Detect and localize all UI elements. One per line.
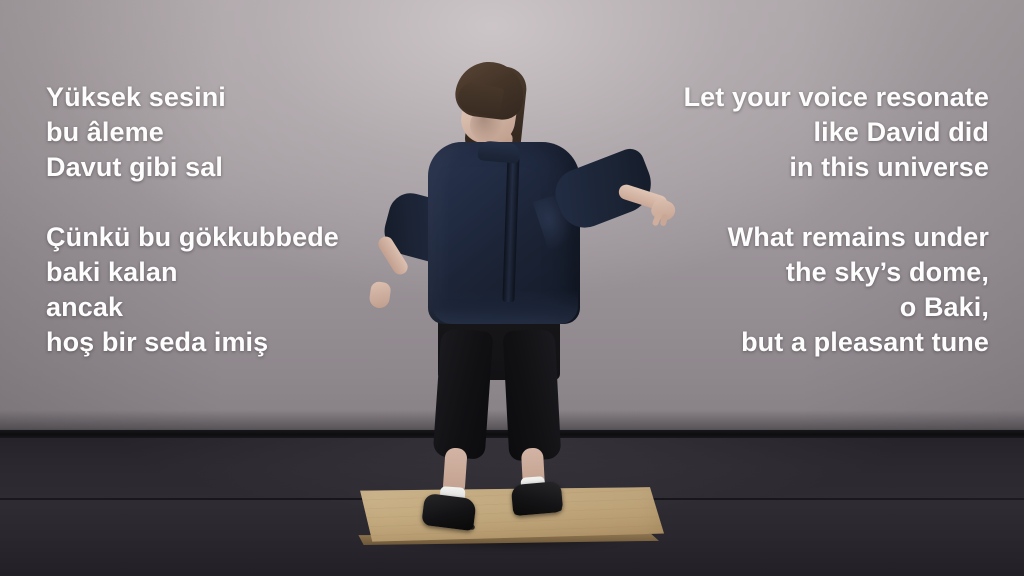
left-hand xyxy=(368,281,391,310)
lyric-stanza: Çünkü bu gökkubbedebaki kalanancakhoş bi… xyxy=(46,220,339,360)
lyric-stanza: Yüksek sesinibu âlemeDavut gibi sal xyxy=(46,80,339,185)
lyric-stanza: Let your voice resonatelike David didin … xyxy=(684,80,989,185)
lyric-line: Yüksek sesini xyxy=(46,80,339,115)
lyric-line: ancak xyxy=(46,290,339,325)
lyric-line: baki kalan xyxy=(46,255,339,290)
right-tap-shoe xyxy=(511,481,564,516)
lyric-line: bu âleme xyxy=(46,115,339,150)
blouse-collar xyxy=(477,140,521,164)
left-tap-shoe xyxy=(421,493,477,531)
lyrics-english: Let your voice resonatelike David didin … xyxy=(684,80,989,360)
lyric-line: like David did xyxy=(684,115,989,150)
lyrics-turkish: Yüksek sesinibu âlemeDavut gibi salÇünkü… xyxy=(46,80,339,360)
lyric-line: What remains under xyxy=(684,220,989,255)
lyric-line: in this universe xyxy=(684,150,989,185)
lyric-stanza: What remains underthe sky’s dome,o Baki,… xyxy=(684,220,989,360)
lyric-line: Let your voice resonate xyxy=(684,80,989,115)
right-finger-2 xyxy=(660,213,669,226)
left-pant-leg xyxy=(433,328,494,459)
lyric-line: o Baki, xyxy=(684,290,989,325)
lyric-line: the sky’s dome, xyxy=(684,255,989,290)
right-pant-leg xyxy=(503,329,562,462)
lyric-line: but a pleasant tune xyxy=(684,325,989,360)
video-frame: Yüksek sesinibu âlemeDavut gibi salÇünkü… xyxy=(0,0,1024,576)
lyric-line: Davut gibi sal xyxy=(46,150,339,185)
lyric-line: hoş bir seda imiş xyxy=(46,325,339,360)
lyric-line: Çünkü bu gökkubbede xyxy=(46,220,339,255)
